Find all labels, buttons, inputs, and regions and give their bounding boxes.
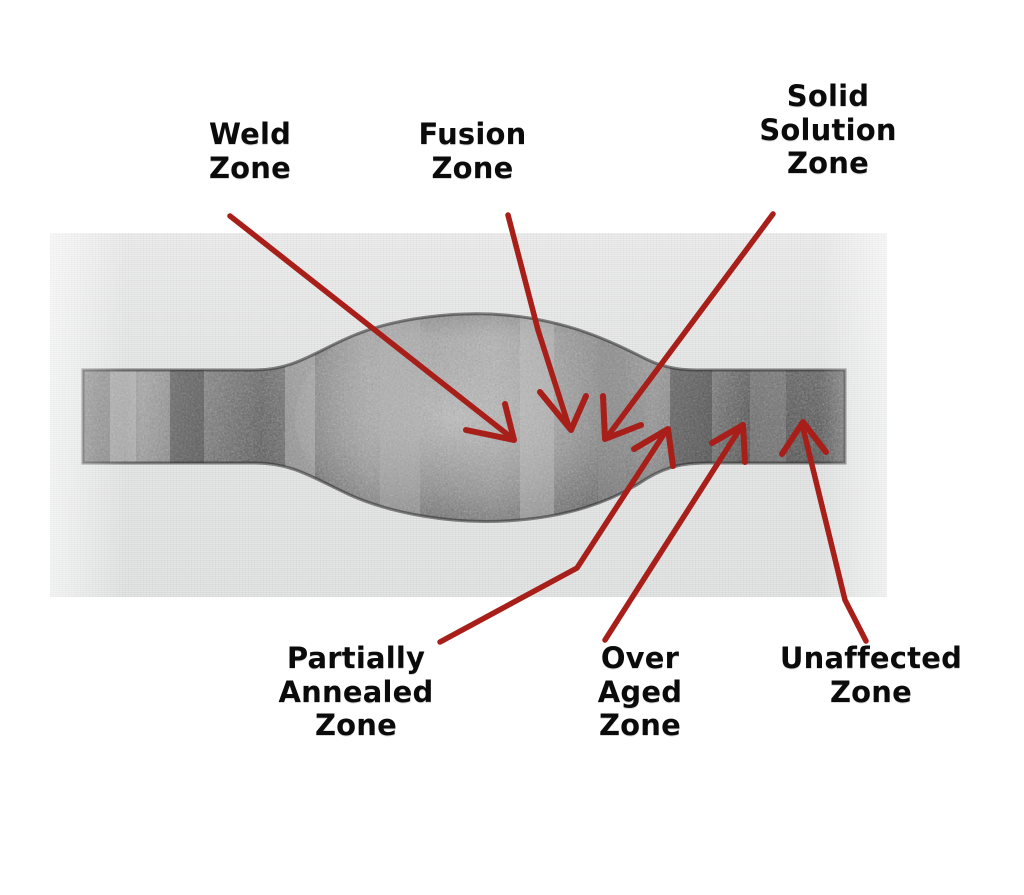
photo-vignette <box>50 233 887 597</box>
label-fusion-zone: Fusion Zone <box>375 118 570 185</box>
label-weld-zone: Weld Zone <box>160 118 340 185</box>
specimen-photograph <box>50 233 887 597</box>
label-unaffected-zone: Unaffected Zone <box>740 642 1002 709</box>
label-partially-annealed-zone: Partially Annealed Zone <box>222 642 490 743</box>
label-over-aged-zone: Over Aged Zone <box>545 642 735 743</box>
label-solid-solution-zone: Solid Solution Zone <box>712 80 944 181</box>
weld-macrograph-figure: Weld Zone Fusion Zone Solid Solution Zon… <box>0 0 1024 895</box>
